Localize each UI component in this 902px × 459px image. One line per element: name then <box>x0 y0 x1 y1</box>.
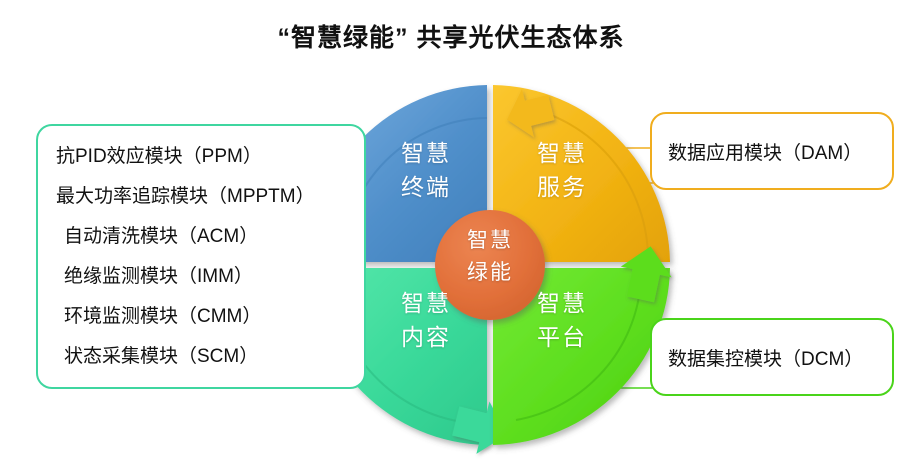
data-control-module-label: 数据集控模块（DCM） <box>668 344 892 371</box>
left-module-item-5: 环境监测模块（CMM） <box>56 297 364 337</box>
data-application-module-callout: 数据应用模块（DAM） <box>650 112 894 190</box>
left-modules-callout: 抗PID效应模块（PPM） 最大功率追踪模块（MPPTM） 自动清洗模块（ACM… <box>36 124 366 389</box>
left-module-item-6: 状态采集模块（SCM） <box>56 337 364 377</box>
left-module-item-4: 绝缘监测模块（IMM） <box>56 257 364 297</box>
data-application-module-label: 数据应用模块（DAM） <box>668 138 892 165</box>
left-module-item-2: 最大功率追踪模块（MPPTM） <box>56 177 364 217</box>
center-circle[interactable] <box>435 210 545 320</box>
left-module-item-1: 抗PID效应模块（PPM） <box>56 137 364 177</box>
data-control-module-callout: 数据集控模块（DCM） <box>650 318 894 396</box>
left-module-item-3: 自动清洗模块（ACM） <box>56 217 364 257</box>
